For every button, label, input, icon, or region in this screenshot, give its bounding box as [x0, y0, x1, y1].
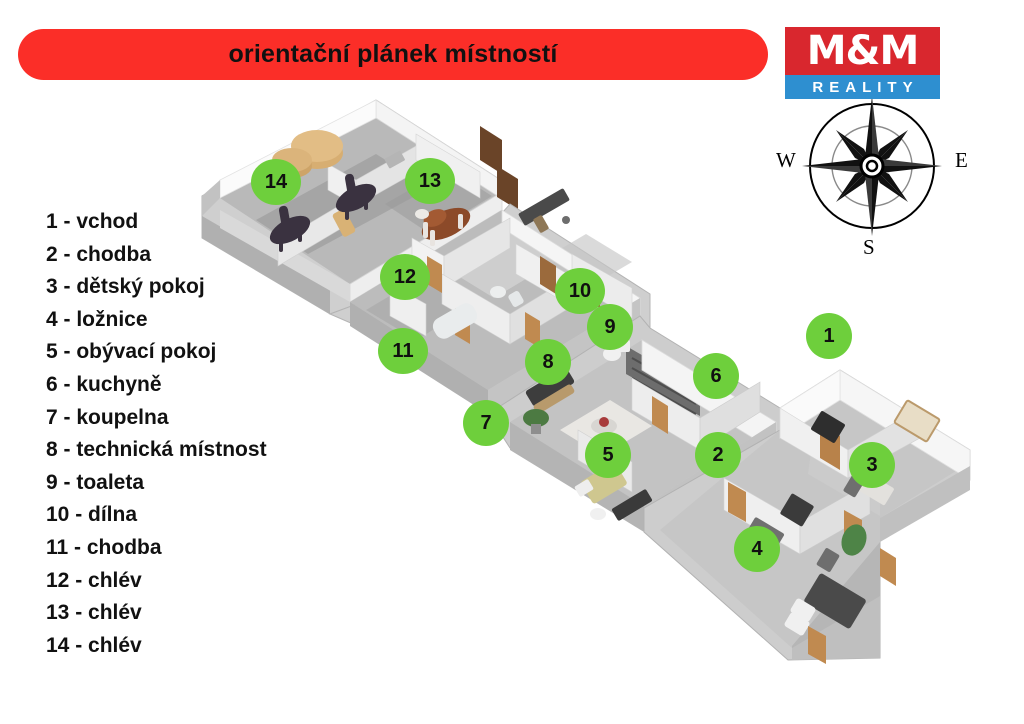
- room-marker-4[interactable]: 4: [734, 526, 780, 572]
- floorplan-svg: [180, 78, 980, 678]
- room-legend: 1 - vchod2 - chodba3 - dětský pokoj4 - l…: [46, 206, 267, 662]
- legend-item-2: 2 - chodba: [46, 239, 267, 272]
- legend-item-9: 9 - toaleta: [46, 467, 267, 500]
- room-marker-8[interactable]: 8: [525, 339, 571, 385]
- legend-item-5: 5 - obývací pokoj: [46, 336, 267, 369]
- room-marker-10[interactable]: 10: [555, 268, 605, 314]
- legend-item-7: 7 - koupelna: [46, 402, 267, 435]
- legend-item-1: 1 - vchod: [46, 206, 267, 239]
- room-marker-7[interactable]: 7: [463, 400, 509, 446]
- room-marker-11[interactable]: 11: [378, 328, 428, 374]
- room-marker-14[interactable]: 14: [251, 159, 301, 205]
- room-marker-9[interactable]: 9: [587, 304, 633, 350]
- legend-item-4: 4 - ložnice: [46, 304, 267, 337]
- legend-item-14: 14 - chlév: [46, 630, 267, 663]
- mm-reality-logo: M&M REALITY: [785, 27, 940, 101]
- logo-brand-text: M&M: [807, 31, 919, 71]
- legend-item-10: 10 - dílna: [46, 499, 267, 532]
- room-marker-6[interactable]: 6: [693, 353, 739, 399]
- legend-item-6: 6 - kuchyně: [46, 369, 267, 402]
- legend-item-8: 8 - technická místnost: [46, 434, 267, 467]
- room-marker-5[interactable]: 5: [585, 432, 631, 478]
- legend-item-11: 11 - chodba: [46, 532, 267, 565]
- title-banner: orientační plánek místností: [18, 29, 768, 80]
- room-marker-13[interactable]: 13: [405, 158, 455, 204]
- room-marker-1[interactable]: 1: [806, 313, 852, 359]
- logo-tagline-block: REALITY: [785, 75, 940, 99]
- page-title: orientační plánek místností: [228, 40, 557, 69]
- floorplan-illustration: [180, 78, 980, 678]
- room-marker-12[interactable]: 12: [380, 254, 430, 300]
- room-marker-2[interactable]: 2: [695, 432, 741, 478]
- legend-item-13: 13 - chlév: [46, 597, 267, 630]
- legend-item-3: 3 - dětský pokoj: [46, 271, 267, 304]
- floor-plan-page: orientační plánek místností M&M REALITY: [0, 0, 1024, 724]
- logo-tagline-text: REALITY: [806, 79, 918, 96]
- legend-item-12: 12 - chlév: [46, 565, 267, 598]
- logo-brand-block: M&M: [785, 27, 940, 75]
- room-marker-3[interactable]: 3: [849, 442, 895, 488]
